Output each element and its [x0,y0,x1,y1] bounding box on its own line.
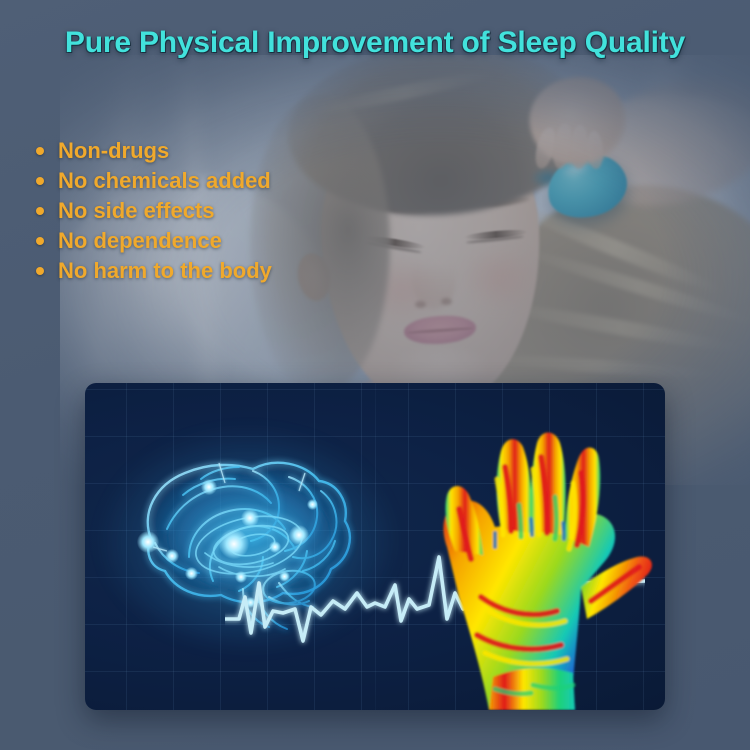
benefit-label: No harm to the body [58,258,272,284]
neuron-node [137,531,159,553]
neuron-node [307,499,318,510]
thermal-hand-icon [385,397,660,710]
thermal-hand-illustration [385,397,660,710]
list-item: No harm to the body [36,256,366,286]
bullet-dot-icon [36,177,44,185]
list-item: Non-drugs [36,136,366,166]
bullet-dot-icon [36,207,44,215]
bullet-dot-icon [36,147,44,155]
sleep-quality-poster: Pure Physical Improvement of Sleep Quali… [0,0,750,750]
neuron-node [165,549,179,563]
benefits-list: Non-drugs No chemicals added No side eff… [36,136,366,286]
neuron-node [185,567,198,580]
bullet-dot-icon [36,237,44,245]
neuron-node [201,479,217,495]
benefit-label: No chemicals added [58,168,271,194]
list-item: No chemicals added [36,166,366,196]
list-item: No dependence [36,226,366,256]
page-title: Pure Physical Improvement of Sleep Quali… [0,26,750,60]
benefit-label: No dependence [58,228,222,254]
benefit-label: No side effects [58,198,215,224]
tech-illustration-panel [85,383,665,710]
bullet-dot-icon [36,267,44,275]
benefit-label: Non-drugs [58,138,169,164]
list-item: No side effects [36,196,366,226]
